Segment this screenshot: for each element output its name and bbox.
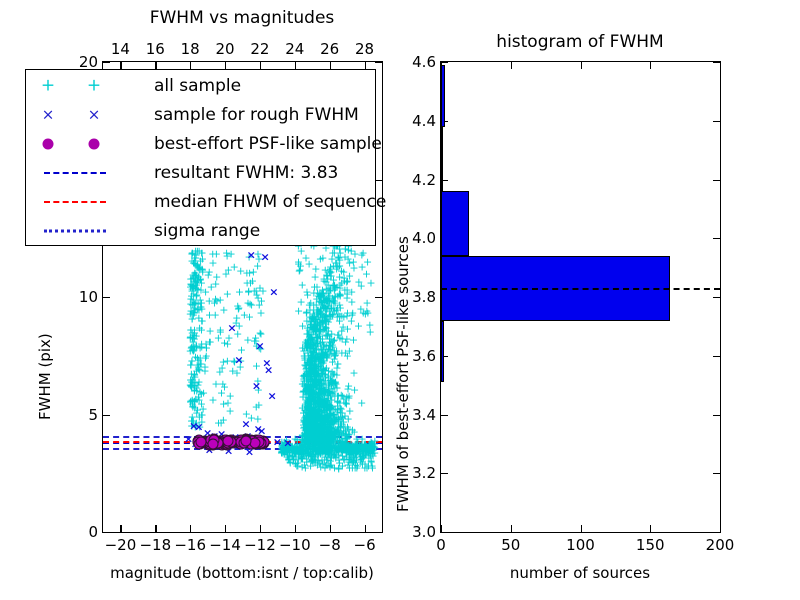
xtick-top-label: 16 bbox=[146, 40, 165, 58]
rough-fwhm-point: × bbox=[252, 381, 261, 392]
xtick-label: 200 bbox=[706, 536, 735, 554]
plus-icon: + bbox=[87, 77, 101, 94]
ytick-label: 4.0 bbox=[397, 229, 436, 247]
xtick-top-label: 28 bbox=[355, 40, 374, 58]
all-sample-point: + bbox=[305, 299, 314, 310]
right-plot-title: histogram of FWHM bbox=[496, 32, 663, 52]
all-sample-point: + bbox=[197, 388, 206, 399]
xtick-top-label: 24 bbox=[285, 40, 304, 58]
all-sample-point: + bbox=[347, 287, 356, 298]
all-sample-point: + bbox=[333, 359, 342, 370]
xtick-label: −16 bbox=[174, 536, 206, 554]
all-sample-point: + bbox=[214, 417, 223, 428]
all-sample-point: + bbox=[219, 305, 228, 316]
all-sample-point: + bbox=[357, 398, 366, 409]
all-sample-point: + bbox=[354, 276, 363, 287]
legend-marker bbox=[32, 163, 152, 183]
all-sample-point: + bbox=[360, 458, 369, 469]
all-sample-point: + bbox=[306, 376, 315, 387]
legend-marker bbox=[32, 221, 152, 241]
dashed-line-icon bbox=[44, 172, 106, 174]
ytick-label: 5 bbox=[67, 406, 98, 424]
ytick-label: 3.8 bbox=[397, 288, 436, 306]
legend-marker: ++ bbox=[32, 76, 152, 96]
all-sample-point: + bbox=[212, 248, 221, 259]
legend-marker bbox=[32, 134, 152, 154]
all-sample-point: + bbox=[316, 253, 325, 264]
all-sample-point: + bbox=[329, 295, 338, 306]
all-sample-point: + bbox=[342, 333, 351, 344]
dashed-line-icon bbox=[44, 201, 106, 203]
all-sample-point: + bbox=[321, 372, 330, 383]
all-sample-point: + bbox=[227, 248, 236, 259]
all-sample-point: + bbox=[348, 307, 357, 318]
all-sample-point: + bbox=[359, 248, 368, 259]
ytick-label: 3.4 bbox=[397, 406, 436, 424]
histogram-bar bbox=[441, 65, 445, 127]
rough-fwhm-point: × bbox=[247, 249, 256, 260]
xtick-label: 0 bbox=[436, 536, 446, 554]
legend-item[interactable]: median FHWM of sequence bbox=[26, 187, 375, 216]
all-sample-point: + bbox=[325, 306, 334, 317]
rough-fwhm-point: × bbox=[261, 252, 270, 263]
all-sample-point: + bbox=[321, 407, 330, 418]
rough-fwhm-point: × bbox=[264, 364, 273, 375]
left-yaxis-label: FWHM (pix) bbox=[36, 333, 54, 420]
all-sample-point: + bbox=[335, 255, 344, 266]
rough-fwhm-point: × bbox=[234, 355, 243, 366]
all-sample-point: + bbox=[303, 448, 312, 459]
legend-box[interactable]: ++all sample××sample for rough FWHMbest-… bbox=[25, 69, 376, 246]
all-sample-point: + bbox=[205, 309, 214, 320]
xtick-label: −8 bbox=[319, 536, 341, 554]
xtick-label: −10 bbox=[279, 536, 311, 554]
rough-fwhm-point: × bbox=[283, 437, 292, 448]
psf-sample-point bbox=[207, 438, 218, 449]
all-sample-point: + bbox=[215, 366, 224, 377]
all-sample-point: + bbox=[349, 452, 358, 463]
ytick-left bbox=[441, 532, 448, 533]
all-sample-point: + bbox=[354, 320, 363, 331]
legend-item[interactable]: sigma range bbox=[26, 216, 375, 245]
all-sample-point: + bbox=[216, 325, 225, 336]
all-sample-point: + bbox=[312, 282, 321, 293]
circle-icon bbox=[89, 138, 100, 149]
all-sample-point: + bbox=[340, 410, 349, 421]
xtick-label: −14 bbox=[209, 536, 241, 554]
xtick-top-label: 26 bbox=[320, 40, 339, 58]
xtick-top bbox=[720, 62, 721, 69]
all-sample-point: + bbox=[335, 282, 344, 293]
ytick-label: 4.2 bbox=[397, 171, 436, 189]
xtick-label: −18 bbox=[139, 536, 171, 554]
all-sample-point: + bbox=[285, 454, 294, 465]
ytick-label: 3.0 bbox=[397, 523, 436, 541]
cross-icon: × bbox=[42, 107, 55, 122]
legend-item[interactable]: ××sample for rough FWHM bbox=[26, 100, 375, 129]
all-sample-point: + bbox=[243, 298, 252, 309]
all-sample-point: + bbox=[225, 406, 234, 417]
all-sample-point: + bbox=[342, 398, 351, 409]
cross-icon: × bbox=[88, 107, 101, 122]
all-sample-point: + bbox=[315, 355, 324, 366]
histogram-bar bbox=[441, 191, 469, 256]
ytick-right bbox=[375, 532, 382, 533]
xtick-label: −6 bbox=[354, 536, 376, 554]
all-sample-point: + bbox=[366, 277, 375, 288]
ytick-right bbox=[713, 532, 720, 533]
ytick-label: 4.6 bbox=[397, 53, 436, 71]
legend-label: best-effort PSF-like sample bbox=[154, 134, 382, 154]
all-sample-point: + bbox=[343, 350, 352, 361]
all-sample-point: + bbox=[205, 296, 214, 307]
all-sample-point: + bbox=[356, 304, 365, 315]
all-sample-point: + bbox=[321, 443, 330, 454]
ytick-label: 10 bbox=[67, 288, 98, 306]
all-sample-point: + bbox=[321, 264, 330, 275]
histogram-bar bbox=[441, 127, 443, 192]
xtick-label: −12 bbox=[244, 536, 276, 554]
legend-label: sample for rough FWHM bbox=[154, 105, 359, 125]
legend-marker: ×× bbox=[32, 105, 152, 125]
all-sample-point: + bbox=[319, 340, 328, 351]
all-sample-point: + bbox=[249, 267, 258, 278]
all-sample-point: + bbox=[306, 422, 315, 433]
all-sample-point: + bbox=[255, 299, 264, 310]
circle-icon bbox=[43, 138, 54, 149]
histogram-bars-layer bbox=[441, 62, 720, 532]
all-sample-point: + bbox=[188, 269, 197, 280]
legend-marker bbox=[32, 192, 152, 212]
all-sample-point: + bbox=[220, 381, 229, 392]
all-sample-point: + bbox=[234, 303, 243, 314]
xtick-label: −20 bbox=[105, 536, 137, 554]
legend-label: median FHWM of sequence bbox=[154, 192, 386, 212]
all-sample-point: + bbox=[297, 245, 306, 256]
all-sample-point: + bbox=[252, 401, 261, 412]
ytick-label: 0 bbox=[67, 523, 98, 541]
all-sample-point: + bbox=[223, 288, 232, 299]
legend-label: sigma range bbox=[154, 221, 260, 241]
all-sample-point: + bbox=[305, 360, 314, 371]
all-sample-point: + bbox=[330, 334, 339, 345]
all-sample-point: + bbox=[349, 262, 358, 273]
rough-fwhm-point: × bbox=[227, 322, 236, 333]
all-sample-point: + bbox=[308, 335, 317, 346]
rough-fwhm-point: × bbox=[273, 436, 282, 447]
all-sample-point: + bbox=[224, 264, 233, 275]
all-sample-point: + bbox=[311, 315, 320, 326]
all-sample-point: + bbox=[302, 411, 311, 422]
rough-fwhm-point: × bbox=[269, 287, 278, 298]
rough-fwhm-point: × bbox=[241, 418, 250, 429]
all-sample-point: + bbox=[205, 266, 214, 277]
histogram-bar bbox=[441, 321, 444, 383]
all-sample-point: + bbox=[368, 444, 377, 455]
all-sample-point: + bbox=[207, 281, 216, 292]
ytick-left bbox=[103, 532, 110, 533]
ytick-label: 4.4 bbox=[397, 112, 436, 130]
ytick-label: 3.2 bbox=[397, 464, 436, 482]
all-sample-point: + bbox=[325, 461, 334, 472]
legend-item[interactable]: resultant FWHM: 3.83 bbox=[26, 158, 375, 187]
right-xaxis-label: number of sources bbox=[510, 564, 650, 582]
ytick-label: 3.6 bbox=[397, 347, 436, 365]
legend-item[interactable]: ++all sample bbox=[26, 71, 375, 100]
all-sample-point: + bbox=[255, 283, 264, 294]
xtick-label: 150 bbox=[636, 536, 665, 554]
rough-fwhm-point: × bbox=[268, 390, 277, 401]
all-sample-point: + bbox=[358, 261, 367, 272]
xtick-label: 50 bbox=[501, 536, 520, 554]
plus-icon: + bbox=[41, 77, 55, 94]
legend-label: all sample bbox=[154, 76, 241, 96]
all-sample-point: + bbox=[328, 386, 337, 397]
legend-label: resultant FWHM: 3.83 bbox=[154, 163, 338, 183]
xtick-top-label: 14 bbox=[111, 40, 130, 58]
rough-fwhm-point: × bbox=[254, 423, 263, 434]
all-sample-point: + bbox=[315, 422, 324, 433]
all-sample-point: + bbox=[349, 367, 358, 378]
dashdot-line-icon bbox=[44, 229, 106, 232]
xtick-top-label: 20 bbox=[216, 40, 235, 58]
figure-canvas: FWHM vs magnitudes magnitude (bottom:isn… bbox=[0, 0, 800, 600]
xtick-bottom bbox=[720, 525, 721, 532]
all-sample-point: + bbox=[206, 325, 215, 336]
all-sample-point: + bbox=[321, 277, 330, 288]
all-sample-point: + bbox=[365, 320, 374, 331]
psf-sample-point bbox=[222, 435, 233, 446]
xtick-top-label: 18 bbox=[181, 40, 200, 58]
all-sample-point: + bbox=[252, 360, 261, 371]
rough-fwhm-point: × bbox=[255, 341, 264, 352]
left-xaxis-label: magnitude (bottom:isnt / top:calib) bbox=[110, 564, 374, 582]
all-sample-point: + bbox=[193, 404, 202, 415]
psf-sample-point bbox=[241, 435, 252, 446]
all-sample-point: + bbox=[298, 320, 307, 331]
all-sample-point: + bbox=[304, 259, 313, 270]
legend-item[interactable]: best-effort PSF-like sample bbox=[26, 129, 375, 158]
all-sample-point: + bbox=[202, 343, 211, 354]
left-plot-title: FWHM vs magnitudes bbox=[150, 8, 335, 28]
resultant-fwhm-line bbox=[441, 288, 720, 290]
xtick-top-label: 22 bbox=[250, 40, 269, 58]
xtick-label: 100 bbox=[566, 536, 595, 554]
